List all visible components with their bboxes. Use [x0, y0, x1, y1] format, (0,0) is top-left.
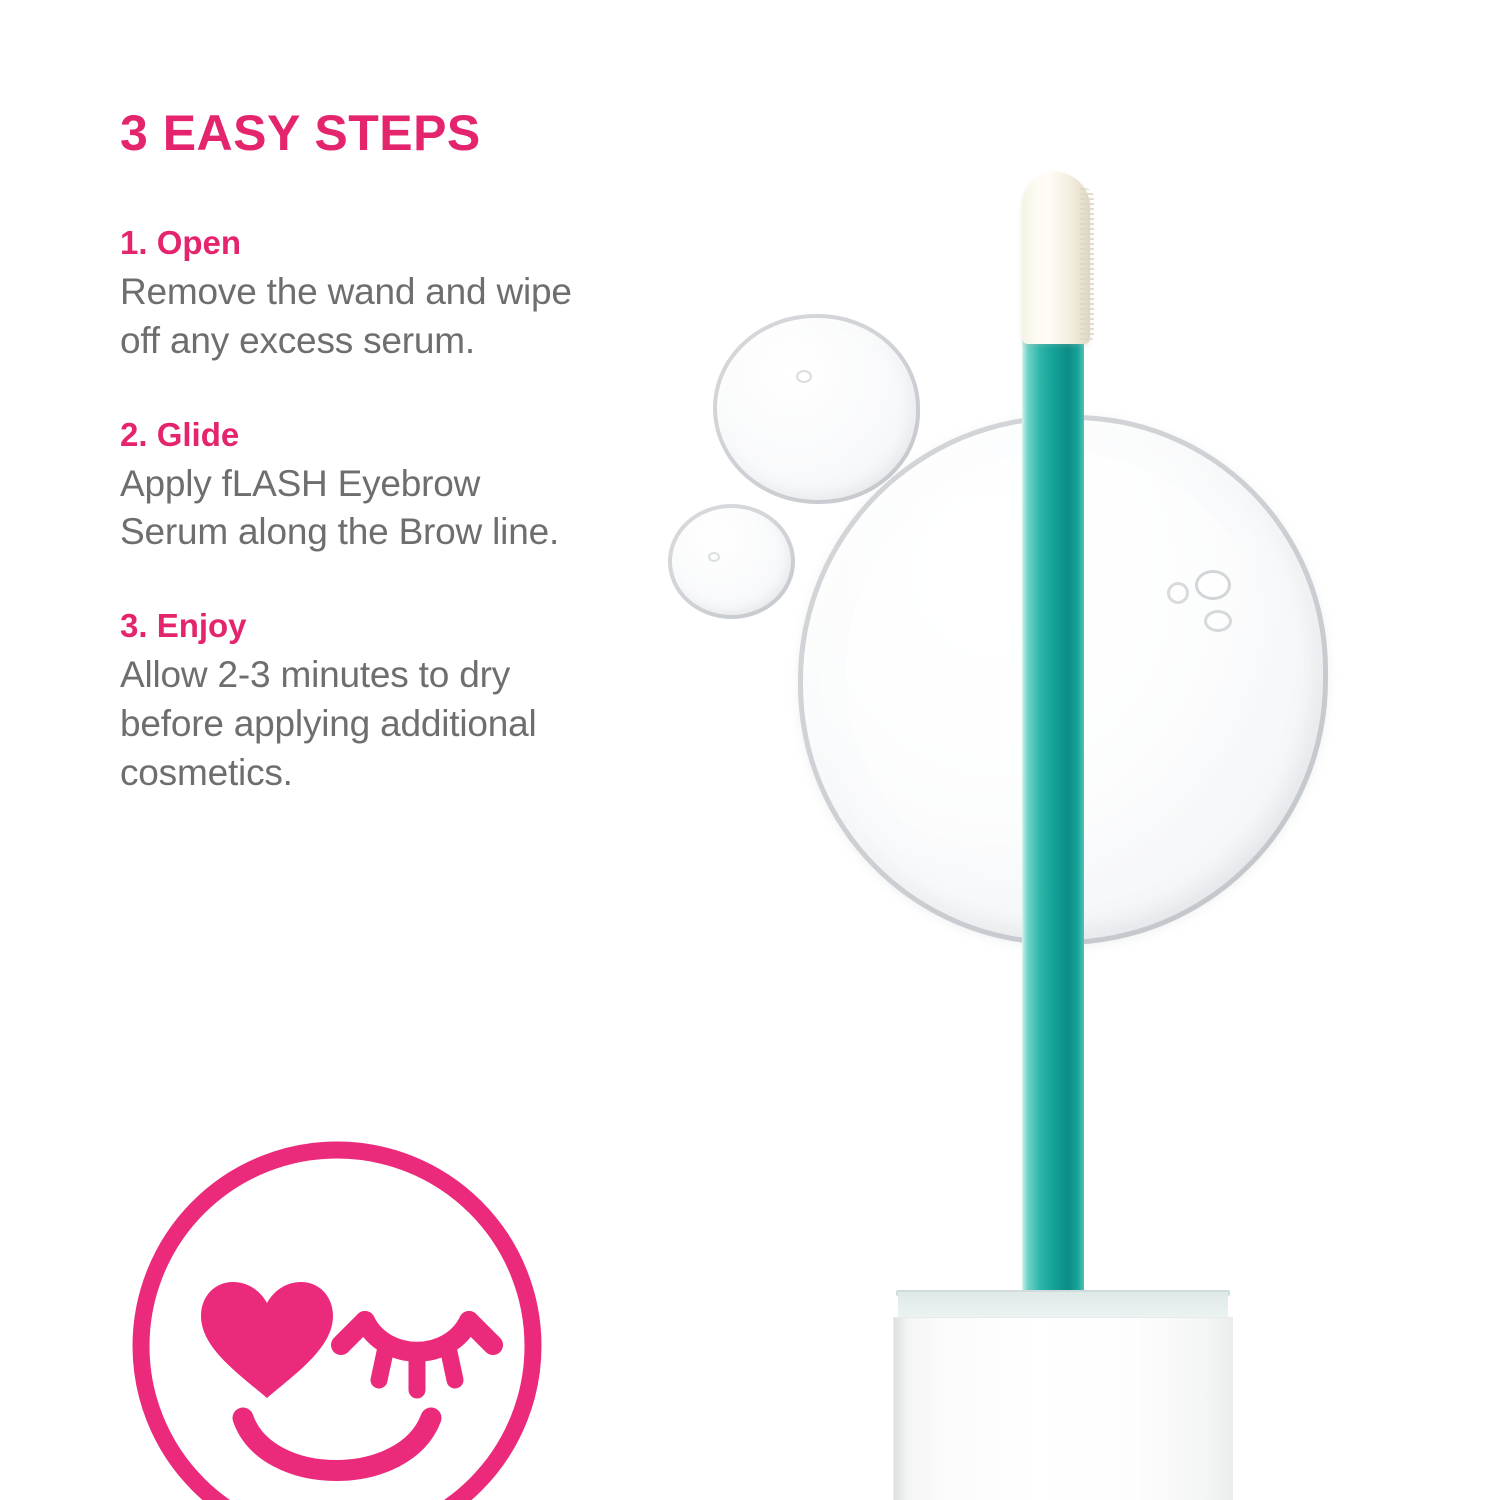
step-2: 2. Glide Apply fLASH Eyebrow Serum along… [120, 416, 590, 558]
gel-bubble [796, 370, 812, 383]
page-title: 3 EASY STEPS [120, 108, 590, 158]
gel-bubble [1167, 582, 1189, 604]
winking-lash-eye-icon [341, 1321, 493, 1352]
bottle-left-shading [894, 1318, 908, 1500]
step-1-title: 1. Open [120, 224, 590, 262]
white-serum-bottle [894, 1318, 1232, 1500]
step-3: 3. Enjoy Allow 2-3 minutes to dry before… [120, 607, 590, 797]
eye-lashes-icon [379, 1352, 455, 1390]
smile-mouth-icon [243, 1418, 431, 1471]
step-1-body: Remove the wand and wipe off any excess … [120, 268, 590, 366]
teal-wand-stem [1022, 330, 1084, 1330]
poster-canvas: 3 EASY STEPS 1. Open Remove the wand and… [0, 0, 1500, 1500]
gel-bubble [1204, 610, 1232, 632]
step-2-title: 2. Glide [120, 416, 590, 454]
step-3-title: 3. Enjoy [120, 607, 590, 645]
product-illustration [610, 0, 1500, 1500]
medium-gel-droplet [713, 314, 920, 504]
instructions-column: 3 EASY STEPS 1. Open Remove the wand and… [120, 108, 590, 798]
heart-eye-icon [201, 1282, 333, 1398]
step-2-body: Apply fLASH Eyebrow Serum along the Brow… [120, 460, 590, 558]
step-1: 1. Open Remove the wand and wipe off any… [120, 224, 590, 366]
applicator-tip-fibers [1080, 188, 1094, 340]
step-3-body: Allow 2-3 minutes to dry before applying… [120, 651, 590, 797]
winking-heart-eye-smiley-icon [127, 1136, 547, 1500]
gel-bubble [1195, 570, 1231, 600]
gel-bubble [708, 552, 720, 562]
small-gel-droplet [668, 504, 795, 619]
